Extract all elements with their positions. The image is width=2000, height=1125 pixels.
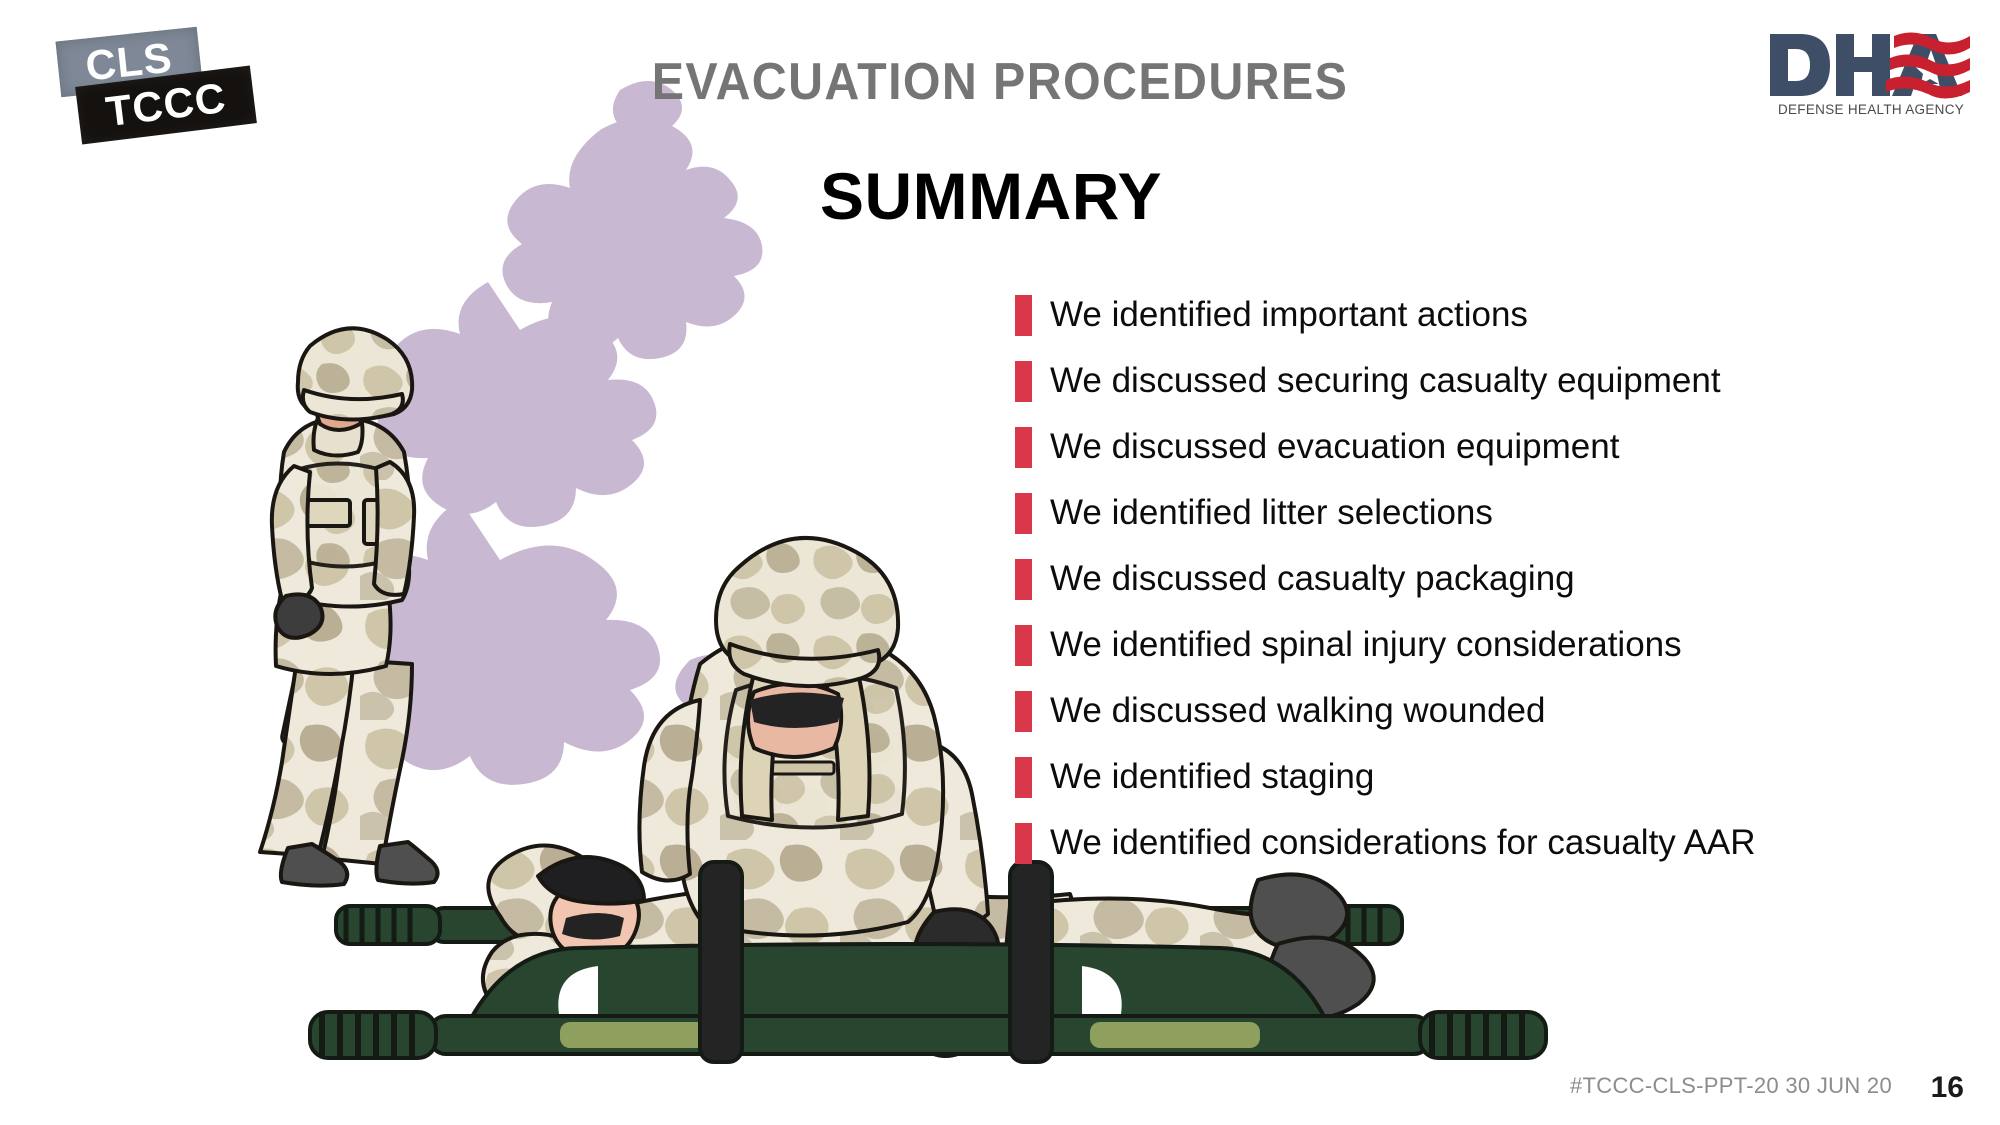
- bullet-marker-icon: [1015, 625, 1032, 666]
- casualty-helmet: [538, 857, 644, 904]
- casualty-torso: [560, 885, 1077, 1006]
- list-item-label: We identified spinal injury consideratio…: [1050, 627, 1682, 664]
- litter-strap-legs: [1010, 862, 1052, 1062]
- casualty-sunglasses: [562, 913, 624, 940]
- medic-right-arm: [900, 740, 988, 927]
- litter-handle-right-back: [1290, 906, 1402, 944]
- bullet-marker-icon: [1015, 691, 1032, 732]
- rifle: [280, 469, 348, 797]
- helmet-brim: [303, 390, 403, 420]
- glove: [275, 594, 322, 637]
- rear-boot: [376, 842, 437, 884]
- list-item-label: We identified considerations for casualt…: [1050, 825, 1756, 862]
- list-item: We discussed casualty packaging: [1015, 546, 1955, 612]
- list-item: We identified staging: [1015, 744, 1955, 810]
- litter-handle-left-back: [336, 906, 440, 944]
- list-item: We identified considerations for casualt…: [1015, 810, 1955, 876]
- list-item: We discussed walking wounded: [1015, 678, 1955, 744]
- dha-subtitle: DEFENSE HEALTH AGENCY: [1766, 102, 1976, 117]
- casualty-head: [550, 878, 639, 958]
- list-item-label: We identified litter selections: [1050, 495, 1493, 532]
- bullet-marker-icon: [1015, 559, 1032, 600]
- medic-pouch-2: [760, 762, 834, 774]
- list-item: We identified spinal injury consideratio…: [1015, 612, 1955, 678]
- section-heading: SUMMARY: [820, 158, 1162, 234]
- sunglasses: [316, 391, 360, 411]
- bullet-marker-icon: [1015, 361, 1032, 402]
- casualty-boot-upper: [1251, 874, 1347, 949]
- medic-left-arm: [639, 700, 700, 881]
- casualty-legs: [1004, 898, 1281, 991]
- bullet-marker-icon: [1015, 757, 1032, 798]
- pouch-2: [364, 500, 392, 544]
- list-item-label: We discussed evacuation equipment: [1050, 429, 1619, 466]
- list-item: We discussed evacuation equipment: [1015, 414, 1955, 480]
- litter-handle-right-front: [1420, 1012, 1546, 1058]
- medic-sunglasses: [750, 692, 844, 728]
- footer-page-number: 16: [1931, 1071, 1964, 1105]
- neck: [314, 415, 363, 456]
- casualty-glove: [912, 996, 986, 1056]
- pouch-1: [306, 500, 350, 526]
- casualty-forearm: [483, 934, 586, 1024]
- footer-document-code: #TCCC-CLS-PPT-20 30 JUN 20: [1570, 1073, 1892, 1099]
- list-item-label: We discussed casualty packaging: [1050, 561, 1575, 598]
- smoke-plume: [331, 81, 762, 785]
- front-boot: [281, 844, 347, 886]
- dha-wordmark-icon: [1766, 26, 1976, 104]
- litter-front: [310, 862, 1546, 1062]
- torso: [280, 418, 410, 607]
- casualty-arm: [488, 845, 599, 942]
- casualty-boot-lower: [1268, 938, 1373, 1019]
- plate-carrier: [291, 463, 391, 566]
- medic-strap-right: [822, 664, 870, 820]
- front-arm: [272, 466, 312, 601]
- front-leg: [260, 652, 354, 856]
- helmet: [298, 328, 412, 418]
- medic-pouch-1: [760, 730, 834, 742]
- medic-right-glove: [915, 909, 998, 984]
- list-item-label: We identified staging: [1050, 759, 1374, 796]
- medic-strap-left: [741, 666, 788, 820]
- summary-bullet-list: We identified important actions We discu…: [1015, 282, 1955, 876]
- face: [315, 379, 364, 430]
- bullet-marker-icon: [1015, 823, 1032, 864]
- slide-canvas: CLS TCCC EVACUATION PROCEDURES DEFEN: [0, 0, 2000, 1125]
- bullet-marker-icon: [1015, 427, 1032, 468]
- medic-torso: [680, 630, 943, 935]
- list-item-label: We identified important actions: [1050, 297, 1528, 334]
- page-title: EVACUATION PROCEDURES: [70, 52, 1930, 112]
- list-item: We identified important actions: [1015, 282, 1955, 348]
- medic-plate-carrier: [724, 674, 904, 827]
- medic-helmet-brim: [729, 644, 879, 686]
- list-item: We identified litter selections: [1015, 480, 1955, 546]
- medic-helmet: [716, 538, 898, 674]
- kneeling-medic: [639, 538, 998, 984]
- dha-logo: DEFENSE HEALTH AGENCY: [1766, 26, 1976, 134]
- bullet-marker-icon: [1015, 295, 1032, 336]
- list-item-label: We discussed walking wounded: [1050, 693, 1545, 730]
- litter-back-rail: [336, 906, 1402, 944]
- bullet-marker-icon: [1015, 493, 1032, 534]
- rear-leg: [322, 660, 412, 864]
- trousers: [276, 581, 391, 674]
- list-item: We discussed securing casualty equipment: [1015, 348, 1955, 414]
- standing-soldier: [260, 328, 438, 885]
- casualty-on-litter: [483, 845, 1374, 1056]
- litter-strap-chest: [700, 862, 742, 1062]
- medic-face: [748, 683, 841, 757]
- litter-handle-left-front: [310, 1012, 436, 1058]
- flag-stripes-icon: [1886, 32, 1970, 98]
- back-arm: [374, 462, 414, 595]
- list-item-label: We discussed securing casualty equipment: [1050, 363, 1721, 400]
